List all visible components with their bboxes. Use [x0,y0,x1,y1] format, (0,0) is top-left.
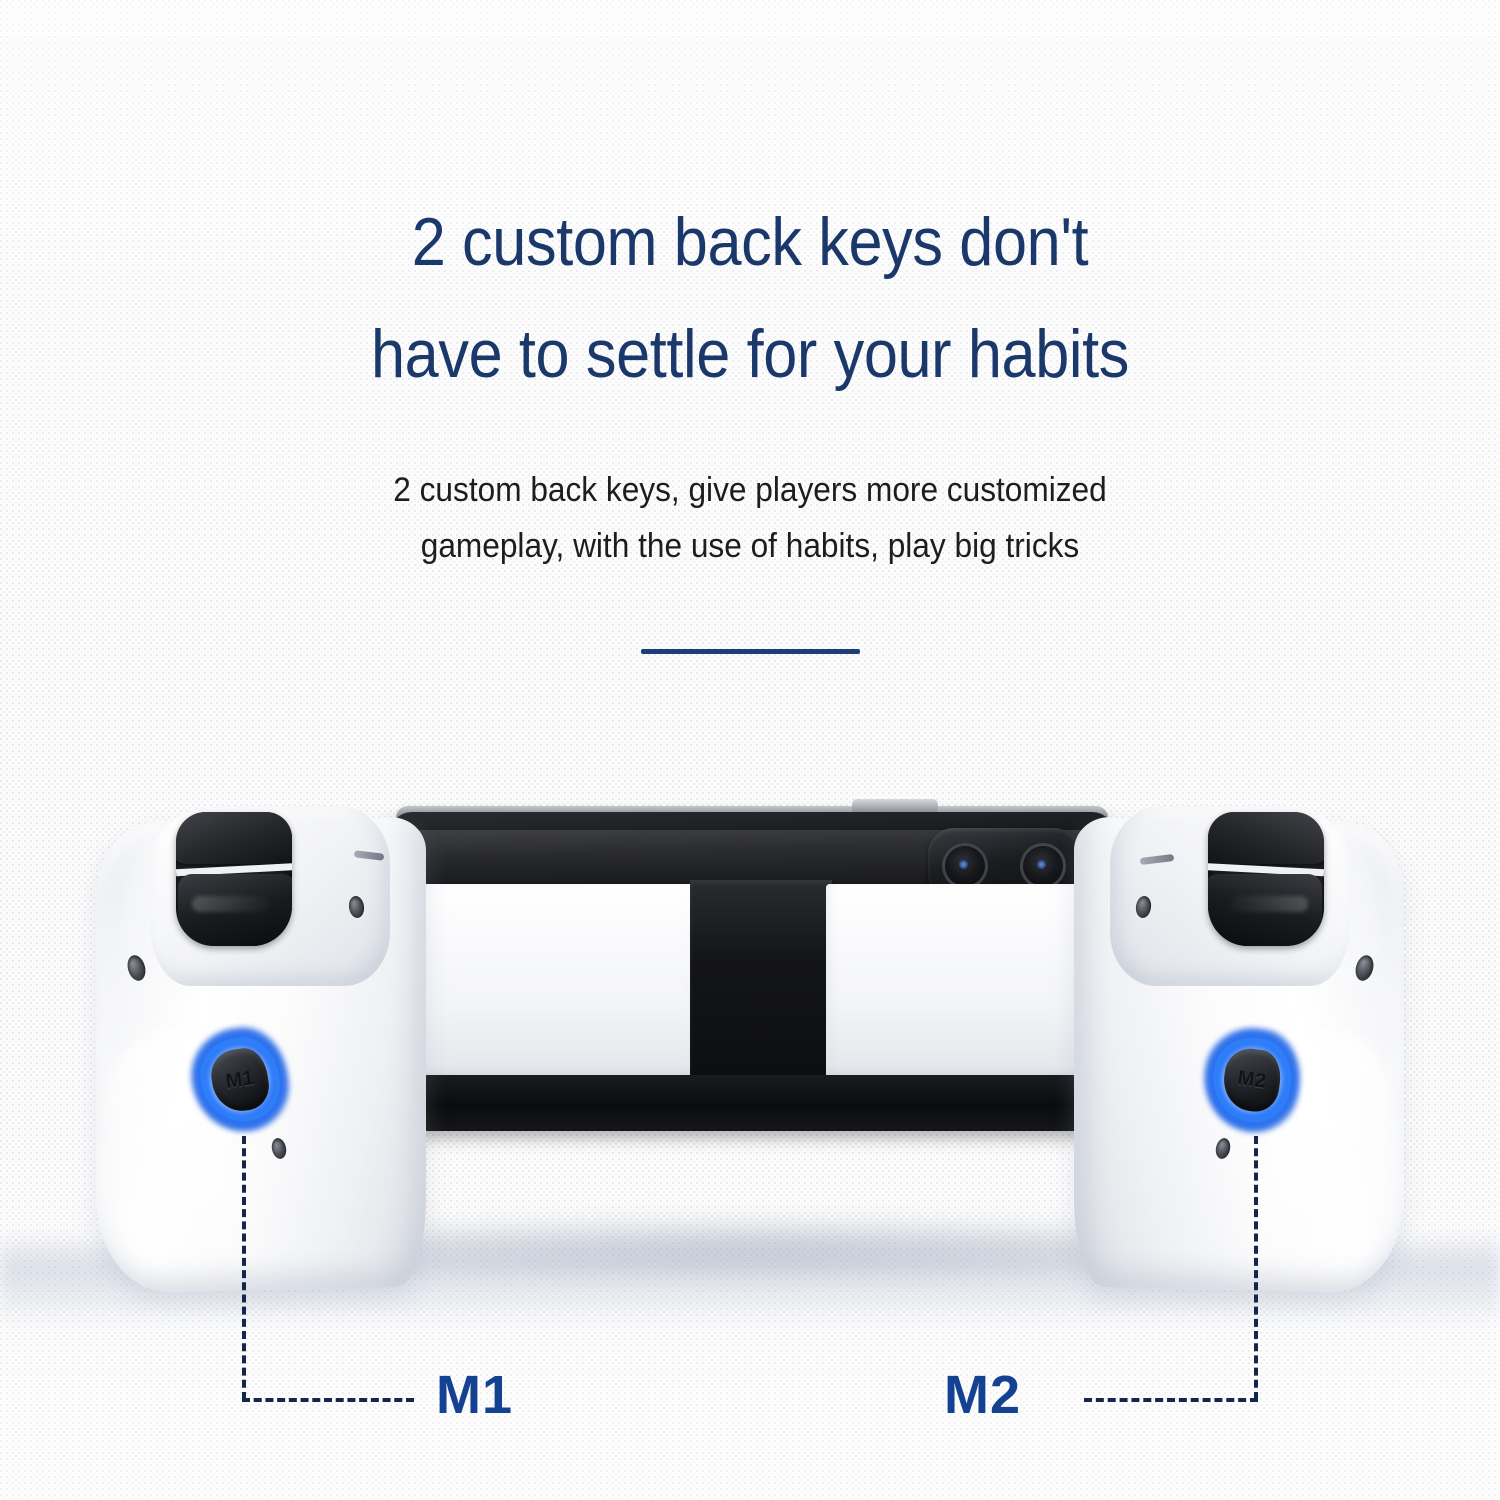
m1-cap-label: M1 [224,1067,256,1094]
promo-page: 2 custom back keys don't have to settle … [0,0,1500,1500]
subcopy-line-2: gameplay, with the use of habits, play b… [53,518,1448,574]
callout-line-m1-vertical [242,1136,246,1400]
section-divider [641,649,860,654]
callout-line-m1-horizontal [242,1398,414,1402]
callout-line-m2-vertical [1254,1136,1258,1400]
back-key-m1[interactable]: M1 [185,1022,295,1138]
camera-lens-icon [942,843,988,889]
headline-line-1: 2 custom back keys don't [75,186,1425,298]
headline: 2 custom back keys don't have to settle … [75,186,1425,410]
trigger-button-right[interactable] [1208,812,1324,946]
camera-lens-icon [1020,843,1066,889]
callout-label-m2: M2 [944,1368,1021,1422]
subcopy: 2 custom back keys, give players more cu… [53,462,1448,574]
subcopy-line-1: 2 custom back keys, give players more cu… [53,462,1448,518]
callout-label-m1: M1 [436,1368,513,1422]
trigger-button-left[interactable] [176,812,292,946]
m2-cap-label: M2 [1236,1067,1268,1094]
back-key-m2[interactable]: M2 [1197,1022,1307,1138]
phone-bracket-left [386,884,698,1106]
phone-bottom-lip [398,1075,1106,1131]
callout-line-m2-horizontal [1084,1398,1258,1402]
headline-line-2: have to settle for your habits [75,298,1425,410]
